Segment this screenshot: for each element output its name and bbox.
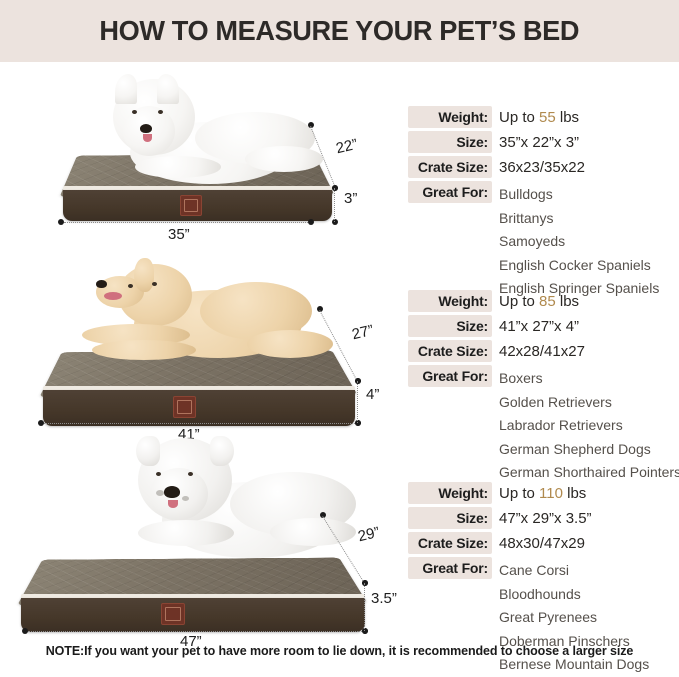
spec-label-size: Size: (408, 315, 492, 337)
list-item: Golden Retrievers (499, 391, 679, 415)
spec-row-crate-size: Crate Size: 42x28/41x27 (408, 340, 679, 363)
bed-base (43, 390, 355, 426)
spec-label-size: Size: (408, 507, 492, 529)
spec-value-crate-size: 48x30/47x29 (492, 533, 585, 555)
spec-label-weight: Weight: (408, 106, 492, 128)
bed-figure-small: 35” 22” 3” (0, 62, 400, 248)
spec-label-crate-size: Crate Size: (408, 532, 492, 554)
dimension-label-height: 3.5” (371, 590, 397, 607)
size-section-large: 47” 29” 3.5” Weight: Up to 110 lbs Size:… (0, 434, 679, 630)
spec-label-weight: Weight: (408, 482, 492, 504)
spec-value-crate-size: 36x23/35x22 (492, 157, 585, 179)
weight-number: 85 (539, 293, 556, 310)
header-banner: HOW TO MEASURE YOUR PET’S BED (0, 0, 679, 62)
spec-row-size: Size: 47”x 29”x 3.5” (408, 507, 679, 530)
spec-value-weight: Up to 55 lbs (492, 107, 579, 129)
dimension-label-width: 27” (350, 322, 375, 343)
brand-logo-patch (161, 603, 185, 625)
weight-suffix: lbs (556, 293, 579, 310)
dimension-label-height: 4” (366, 386, 379, 403)
dim-dot (332, 185, 338, 191)
dog-illustration-samoyed (95, 74, 325, 204)
dimension-line-height (334, 188, 335, 222)
spec-value-weight: Up to 85 lbs (492, 291, 579, 313)
weight-prefix: Up to (499, 485, 539, 502)
spec-value-size: 35”x 22”x 3” (492, 132, 579, 154)
spec-label-size: Size: (408, 131, 492, 153)
spec-row-size: Size: 41”x 27”x 4” (408, 315, 679, 338)
spec-value-weight: Up to 110 lbs (492, 483, 586, 505)
page-title: HOW TO MEASURE YOUR PET’S BED (100, 15, 580, 47)
size-section-small: 35” 22” 3” Weight: Up to 55 lbs Size: 35… (0, 62, 679, 248)
list-item: Boxers (499, 367, 679, 391)
spec-label-crate-size: Crate Size: (408, 156, 492, 178)
spec-row-weight: Weight: Up to 110 lbs (408, 482, 679, 505)
spec-row-crate-size: Crate Size: 36x23/35x22 (408, 156, 679, 179)
brand-logo-patch (173, 396, 196, 418)
bed-figure-large: 47” 29” 3.5” (0, 434, 400, 630)
dimension-label-length: 35” (168, 226, 190, 243)
weight-suffix: lbs (556, 109, 579, 126)
size-section-medium: 41” 27” 4” Weight: Up to 85 lbs Size: 41… (0, 248, 679, 434)
weight-number: 110 (539, 485, 563, 502)
spec-label-weight: Weight: (408, 290, 492, 312)
dimension-line-length (44, 423, 355, 424)
dimension-line-length (28, 631, 362, 632)
weight-suffix: lbs (563, 485, 586, 502)
dog-illustration-great-pyrenees (110, 434, 360, 574)
dim-dot (308, 219, 314, 225)
spec-value-crate-size: 42x28/41x27 (492, 341, 585, 363)
spec-row-crate-size: Crate Size: 48x30/47x29 (408, 532, 679, 555)
dog-illustration-golden-retriever (72, 252, 332, 382)
spec-label-great-for: Great For: (408, 365, 492, 387)
dimension-line-height (364, 583, 365, 631)
dimension-label-height: 3” (344, 190, 357, 207)
spec-value-size: 47”x 29”x 3.5” (492, 508, 592, 530)
list-item: Cane Corsi (499, 559, 679, 583)
spec-row-size: Size: 35”x 22”x 3” (408, 131, 679, 154)
dimension-label-width: 22” (334, 136, 359, 157)
dimension-line-length (64, 222, 308, 223)
list-item: Bloodhounds (499, 583, 679, 607)
spec-label-great-for: Great For: (408, 557, 492, 579)
bed-base (21, 598, 365, 632)
spec-label-crate-size: Crate Size: (408, 340, 492, 362)
spec-label-great-for: Great For: (408, 181, 492, 203)
dim-dot (362, 580, 368, 586)
list-item: Bulldogs (499, 183, 679, 207)
dim-dot (355, 420, 361, 426)
spec-row-weight: Weight: Up to 55 lbs (408, 106, 679, 129)
weight-prefix: Up to (499, 293, 539, 310)
dimension-line-height (357, 381, 358, 423)
bed-figure-medium: 41” 27” 4” (0, 248, 400, 434)
dim-dot (332, 219, 338, 225)
breed-list-large: Cane Corsi Bloodhounds Great Pyrenees Do… (499, 559, 679, 677)
list-item: Brittanys (499, 207, 679, 231)
weight-prefix: Up to (499, 109, 539, 126)
list-item: Great Pyrenees (499, 606, 679, 630)
dimension-label-width: 29” (356, 524, 381, 545)
dim-dot (362, 628, 368, 634)
footer-note: NOTE:If you want your pet to have more r… (0, 644, 679, 658)
weight-number: 55 (539, 109, 556, 126)
spec-value-size: 41”x 27”x 4” (492, 316, 579, 338)
spec-row-weight: Weight: Up to 85 lbs (408, 290, 679, 313)
dim-dot (355, 378, 361, 384)
